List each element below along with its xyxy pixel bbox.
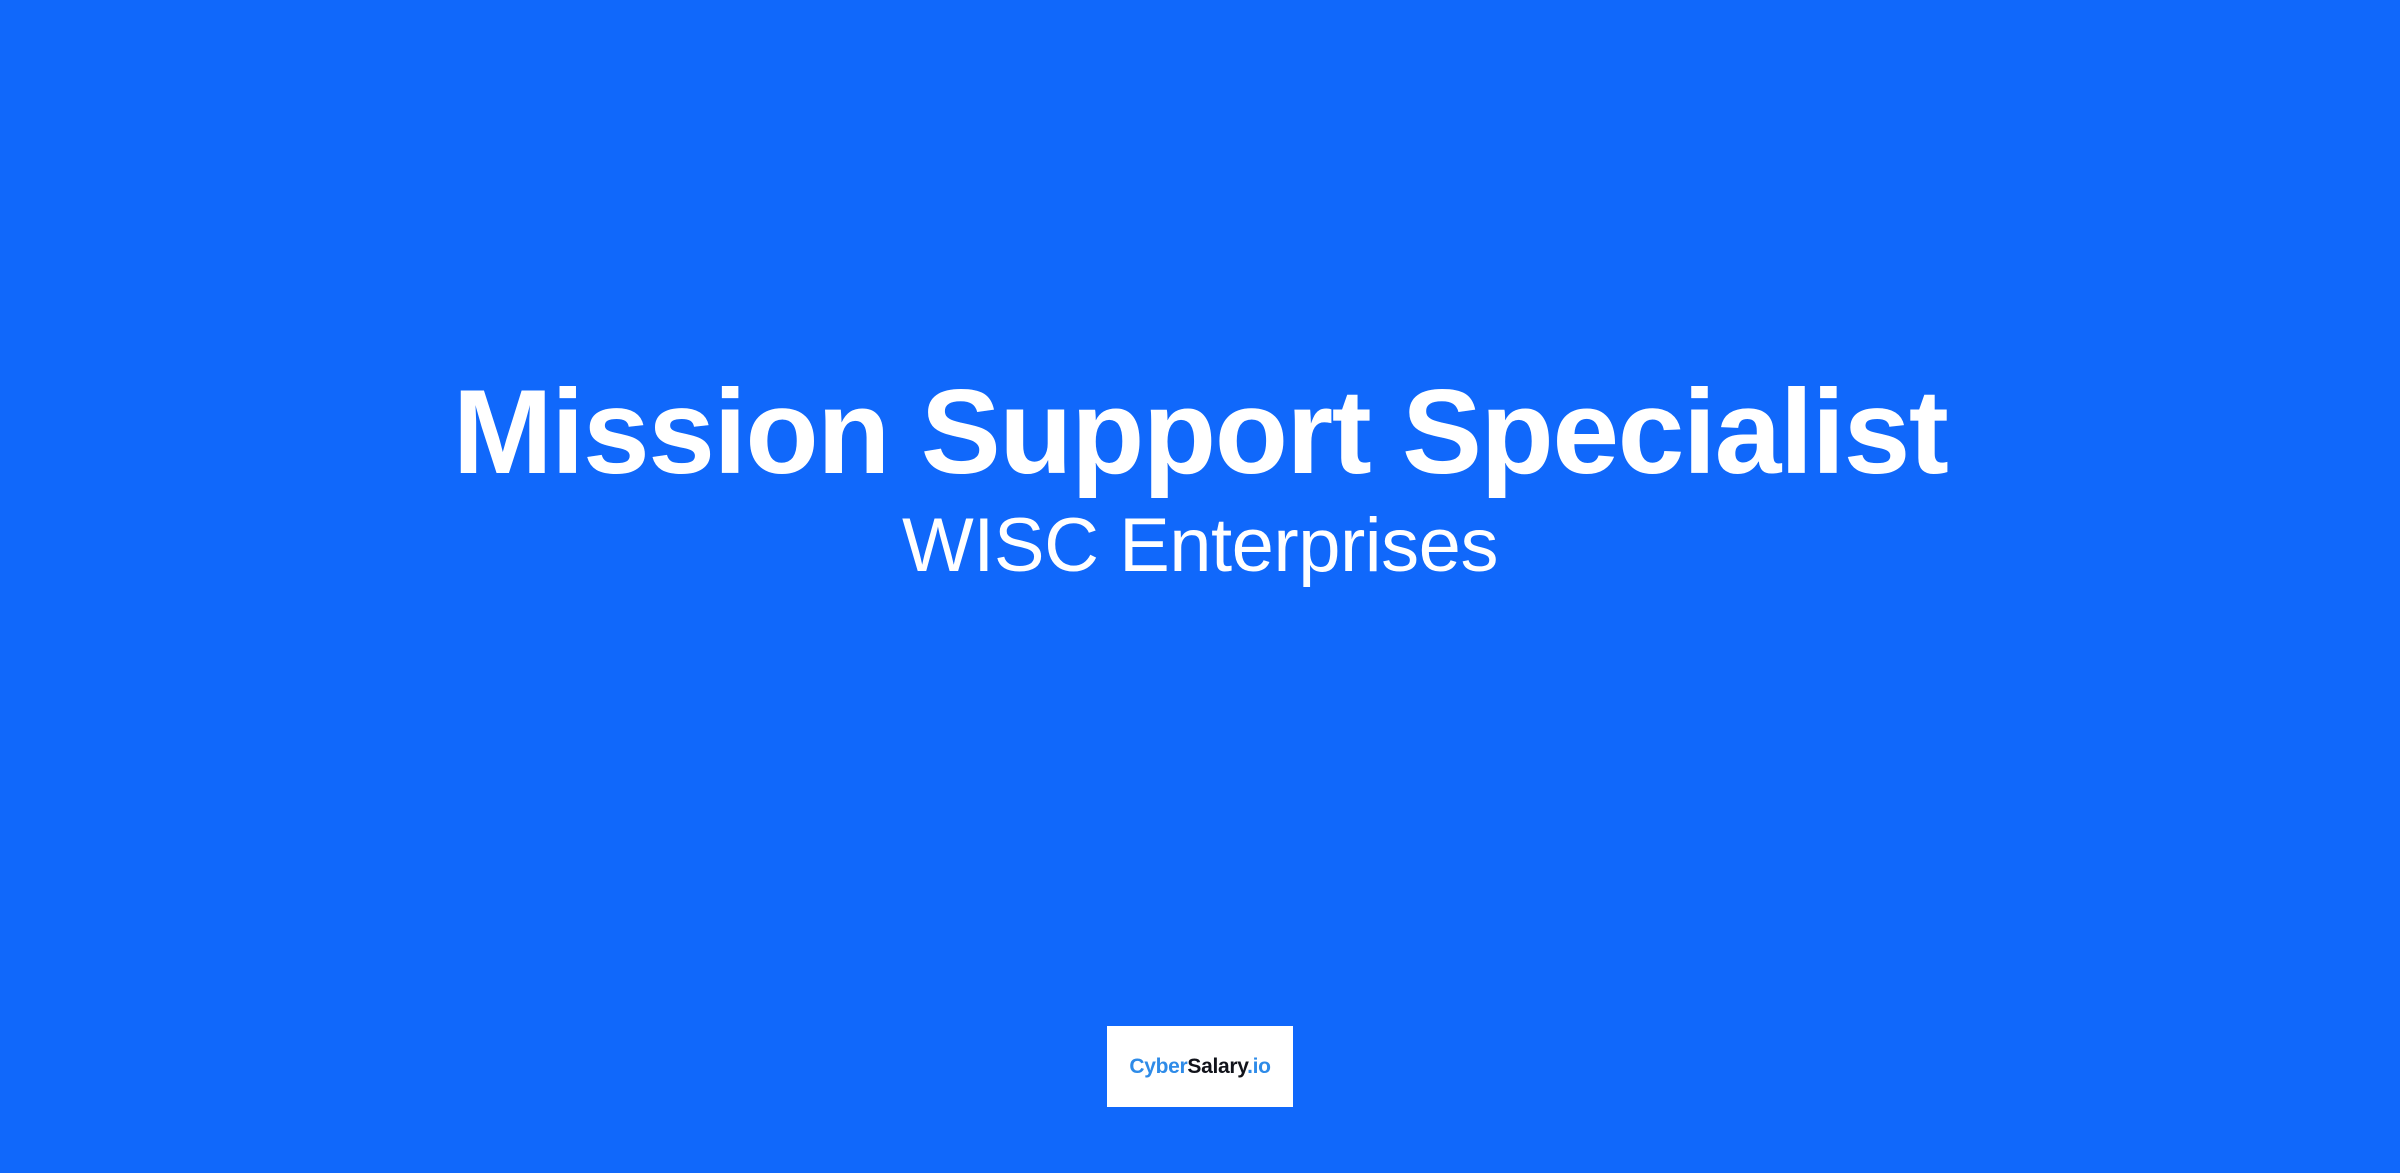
title-slide: Mission Support Specialist WISC Enterpri… [0,0,2400,1173]
brand-wordmark-main: Salary [1187,1055,1247,1078]
brand-wordmark-tld: .io [1247,1055,1271,1078]
page-title: Mission Support Specialist [453,372,1948,492]
brand-wordmark-prefix: Cyber [1129,1055,1187,1078]
brand-wordmark: CyberSalary.io [1129,1056,1270,1077]
page-subtitle: WISC Enterprises [902,508,1498,584]
brand-logo-plate: CyberSalary.io [1107,1026,1293,1107]
hero-text-block: Mission Support Specialist WISC Enterpri… [0,372,2400,584]
